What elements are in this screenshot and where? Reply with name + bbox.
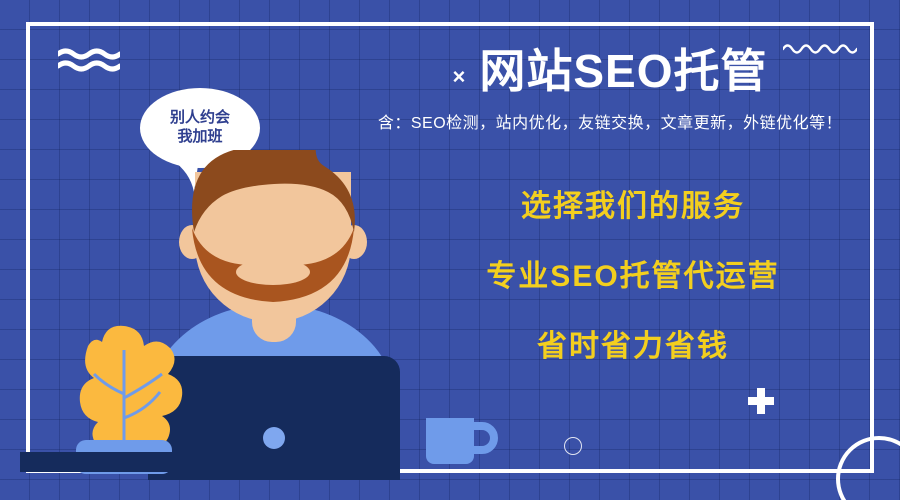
mouth-shape	[236, 259, 310, 285]
header-block: × 网站SEO托管 含：SEO检测，站内优化，友链交换，文章更新，外链优化等！	[330, 46, 890, 133]
plus-icon	[748, 388, 774, 414]
seo-promo-banner: × 网站SEO托管 含：SEO检测，站内优化，友链交换，文章更新，外链优化等！ …	[0, 0, 900, 500]
page-title: 网站SEO托管	[479, 46, 767, 97]
title-bullet-icon: ×	[452, 66, 465, 88]
laptop-logo-icon	[263, 427, 285, 449]
wave-icon	[58, 48, 120, 72]
character-illustration	[40, 150, 500, 480]
mug-body	[426, 418, 474, 464]
circle-outline-small-icon	[564, 437, 582, 455]
desk-surface	[20, 452, 283, 472]
speech-bubble-line-1: 别人约会	[170, 109, 230, 128]
page-subtitle: 含：SEO检测，站内优化，友链交换，文章更新，外链优化等！	[330, 109, 890, 133]
page-title-row: × 网站SEO托管	[330, 46, 890, 97]
speech-bubble-line-2: 我加班	[177, 128, 222, 147]
mug-handle	[474, 426, 494, 450]
